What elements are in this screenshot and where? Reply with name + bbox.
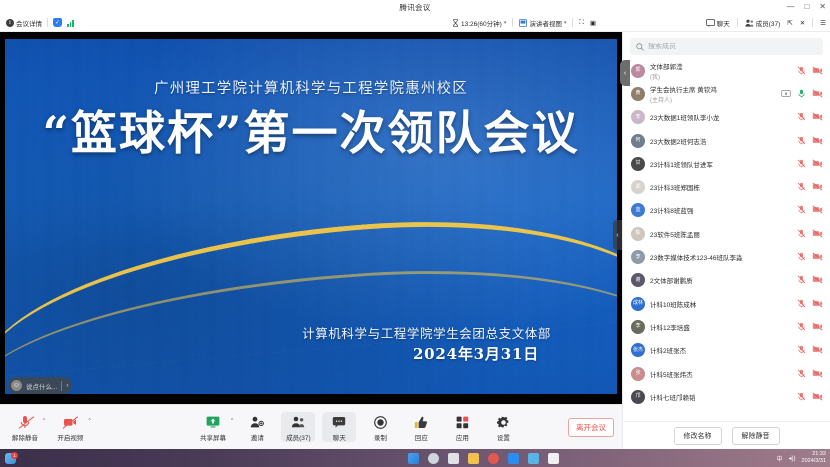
share-screen-button[interactable]: 共享屏幕 [196, 412, 230, 442]
hourglass-icon [452, 19, 459, 27]
participant-status-icons [797, 225, 823, 243]
volume-icon[interactable]: ◂)) [789, 455, 796, 462]
mic-muted-icon[interactable] [797, 225, 806, 243]
share-screen-group: 共享屏幕 ^ [196, 412, 233, 442]
shared-slide: 广州理工学院计算机科学与工程学院惠州校区 “篮球杯”第一次领队会议 计算机科学与… [5, 39, 617, 394]
meeting-toolbar-right: 聊天 成员(37) ⇱ ✕ ☰ [706, 18, 826, 28]
members-button[interactable]: 成员(37) [281, 412, 315, 442]
stage-collapse-handle[interactable]: ‹ [613, 220, 622, 250]
avatar: 郑 [631, 180, 645, 194]
chat-icon [706, 19, 715, 27]
participant-row[interactable]: 张杰计科2班张杰 [625, 339, 828, 362]
participant-name-block: 23计科8班蓝强 [650, 205, 792, 215]
chevron-down-icon: ▾ [504, 20, 507, 26]
start-video-label: 开启视频 [57, 432, 83, 442]
participant-name-block: 计科七班邝赖韬 [650, 392, 792, 402]
toolbar-divider [737, 18, 738, 27]
windows-start-icon[interactable] [408, 453, 419, 464]
mic-muted-icon[interactable] [797, 341, 806, 359]
participant-status-icons [797, 365, 823, 383]
participant-name: 计科12李培盛 [650, 322, 792, 332]
apps-icon [456, 414, 469, 430]
reaction-icon [414, 414, 428, 430]
participant-row[interactable]: 李23大数据1班领队李小龙 [625, 106, 828, 129]
camera-off-icon[interactable] [812, 341, 823, 359]
chevron-down-icon: ▾ [564, 20, 567, 26]
taskbar-center [408, 453, 559, 464]
participant-name-block: 23大数据1班领队李小龙 [650, 112, 792, 122]
avatar: 张杰 [631, 343, 645, 357]
avatar: 郭 [631, 64, 645, 78]
participant-name: 23计科1班领队甘进军 [650, 159, 792, 169]
mic-muted-icon[interactable] [797, 201, 806, 219]
meeting-toolbar-left: i 会议详情 ✓ [0, 18, 74, 28]
meeting-toolbar-center: 13:26(60分钟) ▾ 演讲者视图 ▾ ⛶ ▣ [452, 18, 596, 28]
participant-row[interactable]: 张计科5班张炜杰 [625, 362, 828, 385]
participant-role-tag: (主持人) [650, 95, 776, 104]
chat-toolbar-button[interactable]: 聊天 [706, 18, 730, 28]
search-box[interactable] [630, 38, 823, 55]
apps-button[interactable]: 应用 [445, 412, 479, 442]
view-mode-button[interactable]: 演讲者视图 ▾ [519, 18, 566, 28]
participant-name-block: 计科10班陈成林 [650, 299, 792, 309]
rename-button[interactable]: 修改名称 [674, 427, 722, 445]
camera-off-icon[interactable] [812, 85, 823, 103]
reaction-button[interactable]: 回应 [404, 412, 438, 442]
participant-name: 计科5班张炜杰 [650, 369, 792, 379]
camera-control-group: 开启视频 ^ [53, 412, 90, 442]
members-toolbar-label: 成员(37) [756, 18, 781, 28]
avatar: 邝 [631, 390, 645, 404]
editor-icon[interactable] [528, 453, 539, 464]
participant-name: 23大数据1班领队李小龙 [650, 112, 792, 122]
meeting-details-label: 会议详情 [16, 18, 42, 28]
mic-on-icon[interactable] [797, 85, 806, 103]
meeting-app-window: 腾讯会议 — □ ✕ i 会议详情 ✓ 13:26(60分钟) ▾ [0, 0, 830, 467]
taskbar-left: 1 [0, 453, 16, 464]
avatar: 李 [631, 110, 645, 124]
unmute-button[interactable]: 解除静音 [8, 412, 42, 442]
mic-muted-icon[interactable] [797, 108, 806, 126]
smile-icon[interactable]: ☺ [11, 380, 22, 391]
participant-status-icons [781, 85, 823, 103]
mic-muted-icon[interactable] [797, 295, 806, 313]
pill-divider [61, 381, 62, 391]
participant-status-icons [797, 318, 823, 336]
camera-off-icon[interactable] [812, 388, 823, 406]
chat-icon [332, 414, 346, 430]
screen-share-icon [781, 85, 791, 103]
meeting-app-icon[interactable] [508, 453, 519, 464]
participant-name: 文体部郭滢 [650, 61, 792, 71]
close-window-button[interactable]: ✕ [819, 3, 826, 11]
camera-off-icon[interactable] [812, 295, 823, 313]
participant-name-block: 2文体部谢鹏质 [650, 275, 792, 285]
shield-icon[interactable]: ✓ [53, 18, 62, 27]
participant-name: 计科七班邝赖韬 [650, 392, 792, 402]
mic-muted-icon[interactable] [797, 178, 806, 196]
participants-search-wrap [623, 32, 830, 59]
participant-name-block: 计科12李培盛 [650, 322, 792, 332]
meeting-timer-label: 13:26(60分钟) [461, 18, 502, 28]
mail-icon[interactable] [548, 453, 559, 464]
app-title: 腾讯会议 [399, 2, 430, 13]
meeting-details-button[interactable]: i 会议详情 [6, 18, 42, 28]
mic-muted-icon[interactable] [797, 271, 806, 289]
mic-options-caret-icon[interactable]: ^ [43, 418, 45, 424]
mic-muted-icon[interactable] [797, 365, 806, 383]
camera-off-icon[interactable] [812, 201, 823, 219]
participant-name-block: 23数字媒体技术123-46班队李淼 [650, 252, 792, 262]
participant-row[interactable]: 甘23计科1班领队甘进军 [625, 152, 828, 175]
participant-row[interactable]: 何23大数据2班何志浩 [625, 129, 828, 152]
invite-button[interactable]: 邀请 [240, 412, 274, 442]
stage-reaction-bar[interactable]: ☺ 说点什么... ‹ [8, 377, 72, 394]
chat-label: 聊天 [333, 432, 346, 442]
control-bar-left: 解除静音 ^ 开启视频 ^ [0, 412, 91, 442]
slide-content: 广州理工学院计算机科学与工程学院惠州校区 “篮球杯”第一次领队会议 计算机科学与… [5, 39, 617, 394]
mic-muted-icon[interactable] [797, 132, 806, 150]
window-title-bar: 腾讯会议 — □ ✕ [0, 0, 830, 14]
menu-icon[interactable]: ☰ [820, 19, 826, 27]
settings-label: 设置 [497, 432, 510, 442]
mic-muted-icon[interactable] [797, 155, 806, 173]
participant-name-block: 学生会执行主席 黄钦鸿(主持人) [650, 84, 776, 104]
explorer-icon[interactable] [468, 453, 479, 464]
participant-name: 23大数据2班何志浩 [650, 136, 792, 146]
camera-off-icon[interactable] [812, 365, 823, 383]
maximize-button[interactable]: □ [804, 3, 809, 11]
participants-list[interactable]: 郭文体部郭滢(我)黄学生会执行主席 黄钦鸿(主持人)李23大数据1班领队李小龙何… [623, 59, 830, 421]
pip-icon[interactable]: ▣ [590, 19, 596, 27]
camera-off-icon[interactable] [812, 248, 823, 266]
toolbar-divider [47, 18, 48, 27]
participant-row[interactable]: 郑23计科3班郑国栋 [625, 175, 828, 198]
slide-subtitle: 广州理工学院计算机科学与工程学院惠州校区 [5, 77, 617, 98]
clock-date: 2024/3/31 [802, 458, 826, 465]
avatar: 谢 [631, 273, 645, 287]
camera-off-icon[interactable] [812, 132, 823, 150]
taskbar-right: 中 ◂)) 21:32 2024/3/31 [777, 451, 827, 466]
participant-row[interactable]: 李计科12李培盛 [625, 315, 828, 338]
slide-date: 2024年3月31日 [413, 343, 539, 364]
camera-off-icon[interactable] [812, 271, 823, 289]
participant-name: 23数字媒体技术123-46班队李淼 [650, 252, 792, 262]
participants-footer: 修改名称 解除静音 [623, 421, 830, 449]
invite-icon [250, 414, 264, 430]
search-icon[interactable] [428, 453, 439, 464]
minimize-button[interactable]: — [786, 3, 794, 11]
participant-name: 23计科3班郑国栋 [650, 182, 792, 192]
record-icon [374, 414, 387, 430]
participant-status-icons [797, 201, 823, 219]
participant-status-icons [797, 271, 823, 289]
meeting-timer-button[interactable]: 13:26(60分钟) ▾ [452, 18, 506, 28]
camera-off-icon[interactable] [812, 225, 823, 243]
camera-off-icon[interactable] [812, 155, 823, 173]
avatar: 李 [631, 250, 645, 264]
participant-status-icons [797, 341, 823, 359]
participant-status-icons [797, 248, 823, 266]
browser-icon[interactable] [488, 453, 499, 464]
participant-name: 2文体部谢鹏质 [650, 275, 792, 285]
input-method-icon[interactable]: 中 [777, 454, 783, 463]
camera-off-icon[interactable] [812, 318, 823, 336]
participant-name: 学生会执行主席 黄钦鸿 [650, 84, 776, 94]
participant-name: 计科10班陈成林 [650, 299, 792, 309]
leave-meeting-button[interactable]: 离开会议 [568, 418, 614, 437]
participant-status-icons [797, 132, 823, 150]
apps-label: 应用 [456, 432, 469, 442]
participant-name-block: 23软件5班陈孟丽 [650, 229, 792, 239]
mic-muted-icon[interactable] [797, 62, 806, 80]
record-button[interactable]: 录制 [363, 412, 397, 442]
participant-row[interactable]: 谢2文体部谢鹏质 [625, 269, 828, 292]
mic-muted-icon[interactable] [797, 318, 806, 336]
participant-name: 23软件5班陈孟丽 [650, 229, 792, 239]
share-screen-label: 共享屏幕 [200, 432, 226, 442]
search-input[interactable] [648, 43, 817, 50]
camera-off-icon[interactable] [812, 178, 823, 196]
slide-title: “篮球杯”第一次领队会议 [5, 97, 617, 163]
video-stage: 广州理工学院计算机科学与工程学院惠州校区 “篮球杯”第一次领队会议 计算机科学与… [0, 32, 622, 404]
members-icon [291, 414, 305, 430]
windows-taskbar: 1 中 ◂)) 21:32 2024/3/31 [0, 449, 830, 467]
close-panel-icon[interactable]: ✕ [800, 19, 805, 27]
meeting-toolbar: i 会议详情 ✓ 13:26(60分钟) ▾ 演讲者视图 ▾ [0, 14, 830, 32]
mic-muted-icon [19, 414, 31, 430]
taskbar-clock[interactable]: 21:32 2024/3/31 [802, 451, 826, 466]
stage-reaction-collapse-icon[interactable]: ‹ [66, 382, 68, 389]
clock-time: 21:32 [802, 451, 826, 458]
record-label: 录制 [374, 432, 387, 442]
participant-name-block: 计科5班张炜杰 [650, 369, 792, 379]
camera-off-icon[interactable] [812, 108, 823, 126]
participant-row[interactable]: 成林计科10班陈成林 [625, 292, 828, 315]
meeting-control-bar: 解除静音 ^ 开启视频 ^ 共享屏幕 [0, 404, 622, 449]
avatar: 成林 [631, 297, 645, 311]
participant-name: 23计科8班蓝强 [650, 205, 792, 215]
camera-off-icon [63, 414, 77, 430]
slide-organization: 计算机科学与工程学院学生会团总支文体部 [302, 323, 551, 342]
chat-button[interactable]: 聊天 [322, 412, 356, 442]
participant-name-block: 文体部郭滢(我) [650, 61, 792, 81]
notification-badge: 1 [11, 452, 18, 459]
participant-status-icons [797, 62, 823, 80]
members-icon [745, 19, 754, 27]
unmute-all-button[interactable]: 解除静音 [732, 427, 780, 445]
view-mode-label: 演讲者视图 [529, 18, 562, 28]
participant-status-icons [797, 388, 823, 406]
participant-row[interactable]: 蓝23计科8班蓝强 [625, 199, 828, 222]
mic-control-group: 解除静音 ^ [8, 412, 45, 442]
participant-status-icons [797, 155, 823, 173]
participant-status-icons [797, 295, 823, 313]
participant-row[interactable]: 邝计科七班邝赖韬 [625, 385, 828, 408]
participant-name: 计科2班张杰 [650, 345, 792, 355]
members-toolbar-button[interactable]: 成员(37) [745, 18, 781, 28]
avatar: 甘 [631, 157, 645, 171]
toolbar-divider [512, 18, 513, 27]
toolbar-divider [812, 18, 813, 27]
participant-name-block: 23计科3班郑国栋 [650, 182, 792, 192]
participant-row[interactable]: 李23数字媒体技术123-46班队李淼 [625, 245, 828, 268]
invite-label: 邀请 [251, 432, 264, 442]
stage-reaction-placeholder: 说点什么... [26, 381, 57, 391]
chat-toolbar-label: 聊天 [717, 18, 730, 28]
participants-panel: ‹ 郭文体部郭滢(我)黄学生会执行主席 黄钦鸿(主持人)李23大数据1班领队李小… [622, 32, 830, 449]
layout-icon [519, 19, 527, 27]
settings-icon [497, 414, 510, 430]
mic-muted-icon[interactable] [797, 248, 806, 266]
avatar: 李 [631, 320, 645, 334]
avatar: 何 [631, 134, 645, 148]
participant-status-icons [797, 178, 823, 196]
avatar: 张 [631, 367, 645, 381]
camera-options-caret-icon[interactable]: ^ [88, 418, 90, 424]
participant-name-block: 23计科1班领队甘进军 [650, 159, 792, 169]
signal-bars-icon[interactable] [67, 19, 74, 27]
participant-row[interactable]: 黄学生会执行主席 黄钦鸿(主持人) [625, 82, 828, 105]
share-options-caret-icon[interactable]: ^ [231, 418, 233, 424]
share-screen-icon [206, 414, 220, 430]
camera-off-icon[interactable] [812, 62, 823, 80]
mic-muted-icon[interactable] [797, 388, 806, 406]
popout-icon[interactable]: ⇱ [787, 19, 792, 27]
window-buttons: — □ ✕ [786, 0, 826, 14]
settings-button[interactable]: 设置 [486, 412, 520, 442]
start-video-button[interactable]: 开启视频 [53, 412, 87, 442]
avatar: 蓝 [631, 203, 645, 217]
search-icon [636, 43, 644, 51]
participant-row[interactable]: 陈23软件5班陈孟丽 [625, 222, 828, 245]
avatar: 陈 [631, 227, 645, 241]
fullscreen-icon[interactable]: ⛶ [579, 19, 584, 27]
participant-row[interactable]: 郭文体部郭滢(我) [625, 59, 828, 82]
participant-status-icons [797, 108, 823, 126]
control-bar-center: 共享屏幕 ^ 邀请 成员(37) 聊天 [196, 412, 520, 442]
participant-role-tag: (我) [650, 72, 792, 81]
participant-name-block: 计科2班张杰 [650, 345, 792, 355]
unmute-label: 解除静音 [12, 432, 38, 442]
participant-name-block: 23大数据2班何志浩 [650, 136, 792, 146]
members-count-label: 成员(37) [286, 432, 311, 442]
info-icon: i [6, 19, 14, 27]
task-view-icon[interactable] [448, 453, 459, 464]
toolbar-divider [572, 18, 573, 27]
avatar: 黄 [631, 87, 645, 101]
reaction-label: 回应 [415, 432, 428, 442]
